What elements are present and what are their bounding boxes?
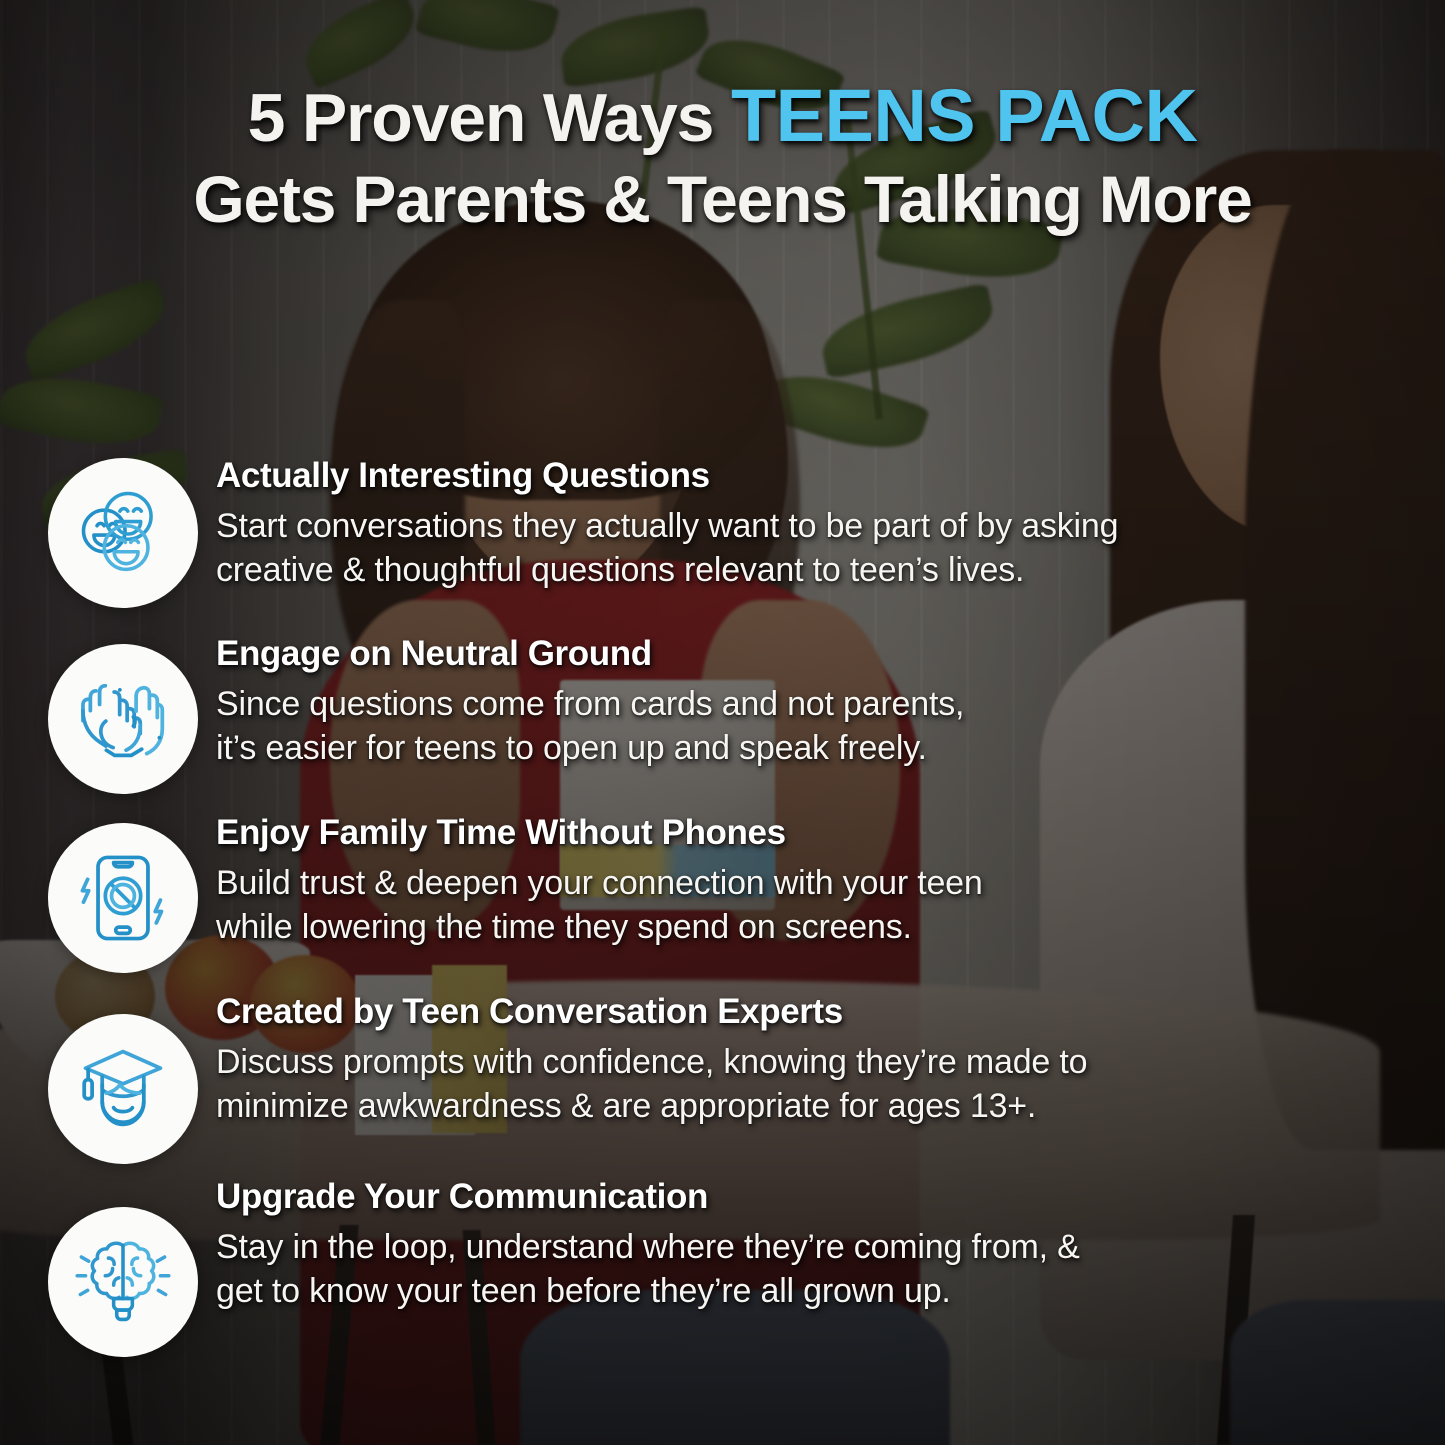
feature-title: Enjoy Family Time Without Phones xyxy=(216,813,1445,854)
feature-title: Engage on Neutral Ground xyxy=(216,634,1445,675)
feature-body-line: creative & thoughtful questions relevant… xyxy=(216,548,1396,592)
headline-prefix: 5 Proven Ways xyxy=(248,80,714,156)
feature-text: Enjoy Family Time Without Phones Build t… xyxy=(198,809,1445,949)
feature-body: Build trust & deepen your connection wit… xyxy=(216,861,1396,949)
feature-text: Upgrade Your Communication Stay in the l… xyxy=(198,1173,1445,1313)
feature-icon-badge xyxy=(48,458,198,608)
feature-row: Engage on Neutral Ground Since questions… xyxy=(0,630,1445,809)
feature-row: Created by Teen Conversation Experts Dis… xyxy=(0,988,1445,1173)
infographic-poster: 5 Proven Ways TEENS PACK Gets Parents & … xyxy=(0,0,1445,1445)
feature-icon-badge xyxy=(48,1014,198,1164)
feature-title: Actually Interesting Questions xyxy=(216,456,1445,497)
feature-body: Stay in the loop, understand where they’… xyxy=(216,1225,1396,1313)
feature-body-line: minimize awkwardness & are appropriate f… xyxy=(216,1084,1396,1128)
feature-body-line: Since questions come from cards and not … xyxy=(216,682,1396,726)
feature-body-line: Build trust & deepen your connection wit… xyxy=(216,861,1396,905)
feature-body-line: Stay in the loop, understand where they’… xyxy=(216,1225,1396,1269)
headline-line-1: 5 Proven Ways TEENS PACK xyxy=(44,78,1401,155)
headline-block: 5 Proven Ways TEENS PACK Gets Parents & … xyxy=(0,78,1445,234)
feature-text: Engage on Neutral Ground Since questions… xyxy=(198,630,1445,770)
feature-body-line: get to know your teen before they’re all… xyxy=(216,1269,1396,1313)
feature-body-line: Start conversations they actually want t… xyxy=(216,504,1396,548)
feature-body: Start conversations they actually want t… xyxy=(216,504,1396,592)
feature-row: Actually Interesting Questions Start con… xyxy=(0,452,1445,630)
graduate-icon xyxy=(71,1037,175,1141)
feature-body-line: while lowering the time they spend on sc… xyxy=(216,905,1396,949)
clasped-hands-icon xyxy=(71,667,175,771)
feature-icon-badge xyxy=(48,644,198,794)
feature-body-line: it’s easier for teens to open up and spe… xyxy=(216,726,1396,770)
feature-row: Upgrade Your Communication Stay in the l… xyxy=(0,1173,1445,1357)
brain-bulb-icon xyxy=(71,1230,175,1334)
feature-text: Actually Interesting Questions Start con… xyxy=(198,452,1445,592)
feature-body: Since questions come from cards and not … xyxy=(216,682,1396,770)
feature-body-line: Discuss prompts with confidence, knowing… xyxy=(216,1040,1396,1084)
feature-title: Upgrade Your Communication xyxy=(216,1177,1445,1218)
feature-row: Enjoy Family Time Without Phones Build t… xyxy=(0,809,1445,988)
poster-content: 5 Proven Ways TEENS PACK Gets Parents & … xyxy=(0,0,1445,1445)
feature-title: Created by Teen Conversation Experts xyxy=(216,992,1445,1033)
no-phone-icon xyxy=(71,846,175,950)
feature-icon-badge xyxy=(48,823,198,973)
feature-icon-badge xyxy=(48,1207,198,1357)
headline-line-2: Gets Parents & Teens Talking More xyxy=(44,165,1401,234)
headline-accent-teens-pack: TEENS PACK xyxy=(731,74,1197,157)
feature-body: Discuss prompts with confidence, knowing… xyxy=(216,1040,1396,1128)
feature-list: Actually Interesting Questions Start con… xyxy=(0,452,1445,1357)
feature-text: Created by Teen Conversation Experts Dis… xyxy=(198,988,1445,1128)
laughing-faces-icon xyxy=(71,481,175,585)
